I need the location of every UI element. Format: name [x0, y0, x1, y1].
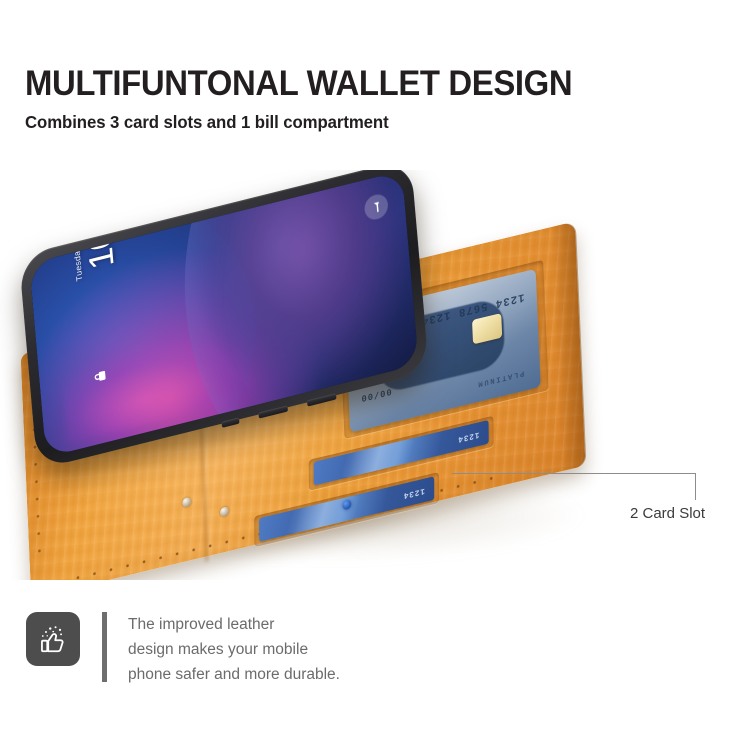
card-brand: PLATINUM	[477, 368, 525, 388]
product-infographic: MULTIFUNTONAL WALLET DESIGN Combines 3 c…	[0, 0, 750, 750]
callout-leader-horizontal	[452, 473, 695, 474]
feature-line-1: The improved leather	[128, 612, 340, 637]
page-title: MULTIFUNTONAL WALLET DESIGN	[25, 66, 683, 101]
slim-card-bottom-label: 1234	[403, 486, 425, 500]
feature-divider	[102, 612, 107, 682]
feature-footer: The improved leather design makes your m…	[26, 612, 340, 687]
slim-card-top-label: 1234	[457, 429, 479, 443]
card-expiry: 00/00	[360, 386, 392, 404]
feature-line-2: design makes your mobile	[128, 637, 340, 662]
thumbs-up-glyph	[36, 622, 70, 656]
thumbs-up-icon	[26, 612, 80, 666]
callout-leader-vertical	[695, 473, 696, 500]
flashlight-icon	[369, 199, 383, 215]
header: MULTIFUNTONAL WALLET DESIGN Combines 3 c…	[25, 66, 725, 133]
callout-label: 2 Card Slot	[630, 505, 705, 522]
feature-description: The improved leather design makes your m…	[128, 612, 340, 687]
feature-line-3: phone safer and more durable.	[128, 662, 340, 687]
page-subtitle: Combines 3 card slots and 1 bill compart…	[25, 112, 697, 133]
lock-icon	[93, 367, 107, 385]
